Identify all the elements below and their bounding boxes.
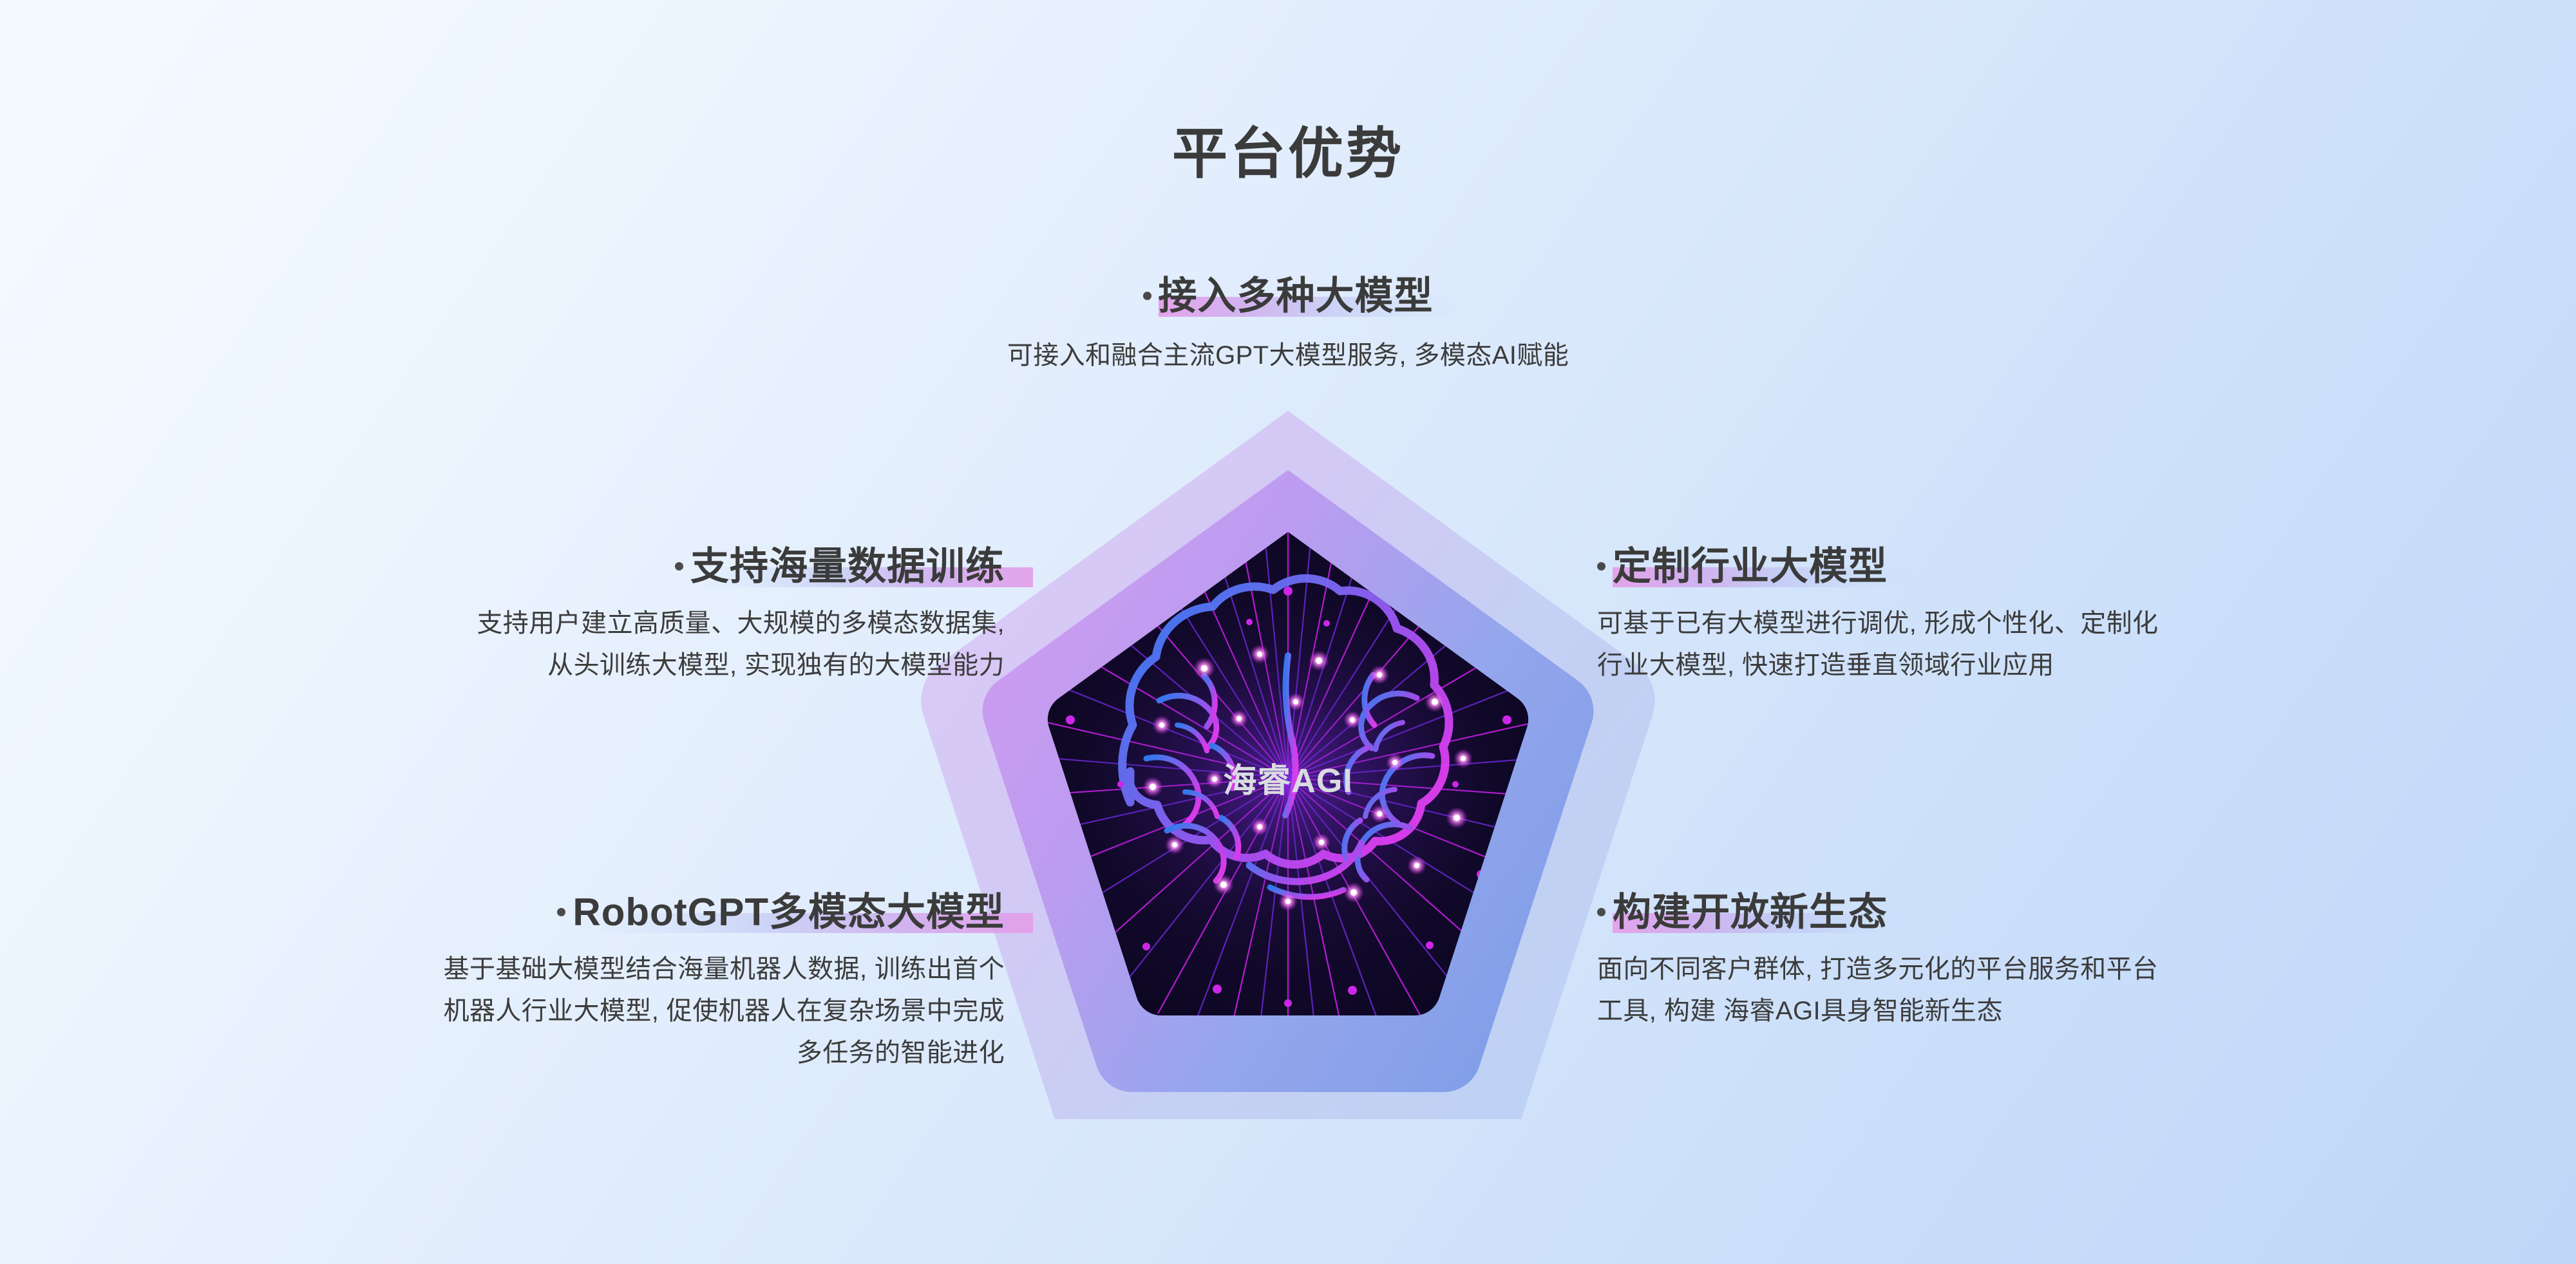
feature-description-line: 可接入和融合主流GPT大模型服务, 多模态AI赋能 [708,335,1868,377]
feature-description-line: 从头训练大模型, 实现独有的大模型能力 [116,645,1005,686]
feature-description-line: 工具, 构建 海睿AGI具身智能新生态 [1597,990,2499,1032]
feature-description: 支持用户建立高质量、大规模的多模态数据集, 从头训练大模型, 实现独有的大模型能… [116,603,1005,686]
feature-title-text: 构建开放新生态 [1613,891,1888,934]
feature-open-ecosystem[interactable]: 构建开放新生态 面向不同客户群体, 打造多元化的平台服务和平台 工具, 构建 海… [1597,890,2499,1032]
feature-description: 面向不同客户群体, 打造多元化的平台服务和平台 工具, 构建 海睿AGI具身智能… [1597,948,2499,1032]
feature-description: 可接入和融合主流GPT大模型服务, 多模态AI赋能 [708,335,1868,377]
feature-robotgpt-multimodal-model[interactable]: RobotGPT多模态大模型 基于基础大模型结合海量机器人数据, 训练出首个 机… [116,890,1005,1073]
feature-title: RobotGPT多模态大模型 [557,890,1005,934]
bullet-dot-icon [557,908,565,916]
feature-massive-data-training[interactable]: 支持海量数据训练 支持用户建立高质量、大规模的多模态数据集, 从头训练大模型, … [116,544,1005,686]
feature-description: 基于基础大模型结合海量机器人数据, 训练出首个 机器人行业大模型, 促使机器人在… [116,948,1005,1073]
feature-custom-industry-model[interactable]: 定制行业大模型 可基于已有大模型进行调优, 形成个性化、定制化 行业大模型, 快… [1597,544,2499,686]
bullet-dot-icon [1597,562,1605,571]
feature-description-line: 多任务的智能进化 [116,1032,1005,1074]
feature-access-multiple-models[interactable]: 接入多种大模型 可接入和融合主流GPT大模型服务, 多模态AI赋能 [708,274,1868,377]
feature-description-line: 机器人行业大模型, 促使机器人在复杂场景中完成 [116,990,1005,1032]
feature-title-text: RobotGPT多模态大模型 [573,891,1005,934]
feature-title-text: 接入多种大模型 [1159,274,1434,317]
feature-title: 接入多种大模型 [1143,274,1434,318]
bullet-dot-icon [1597,908,1605,916]
bullet-dot-icon [675,562,683,571]
brand-label: 海睿AGI [1223,762,1352,800]
feature-description-line: 可基于已有大模型进行调优, 形成个性化、定制化 [1597,603,2499,645]
bullet-dot-icon [1143,292,1151,300]
feature-description-line: 支持用户建立高质量、大规模的多模态数据集, [116,603,1005,645]
feature-title: 支持海量数据训练 [675,544,1005,589]
platform-advantages-infographic: 平台优势 [0,0,2576,1264]
center-emblem: 海睿AGI [902,398,1674,1119]
feature-description-line: 行业大模型, 快速打造垂直领域行业应用 [1597,645,2499,686]
pentagon-brain-graphic: 海睿AGI [902,398,1674,1119]
feature-description: 可基于已有大模型进行调优, 形成个性化、定制化 行业大模型, 快速打造垂直领域行… [1597,603,2499,686]
feature-title-text: 支持海量数据训练 [690,545,1005,588]
feature-title-text: 定制行业大模型 [1613,545,1888,588]
feature-description-line: 基于基础大模型结合海量机器人数据, 训练出首个 [116,948,1005,990]
feature-title: 构建开放新生态 [1597,890,1888,934]
feature-description-line: 面向不同客户群体, 打造多元化的平台服务和平台 [1597,948,2499,990]
page-title: 平台优势 [0,108,2576,189]
feature-title: 定制行业大模型 [1597,544,1888,589]
